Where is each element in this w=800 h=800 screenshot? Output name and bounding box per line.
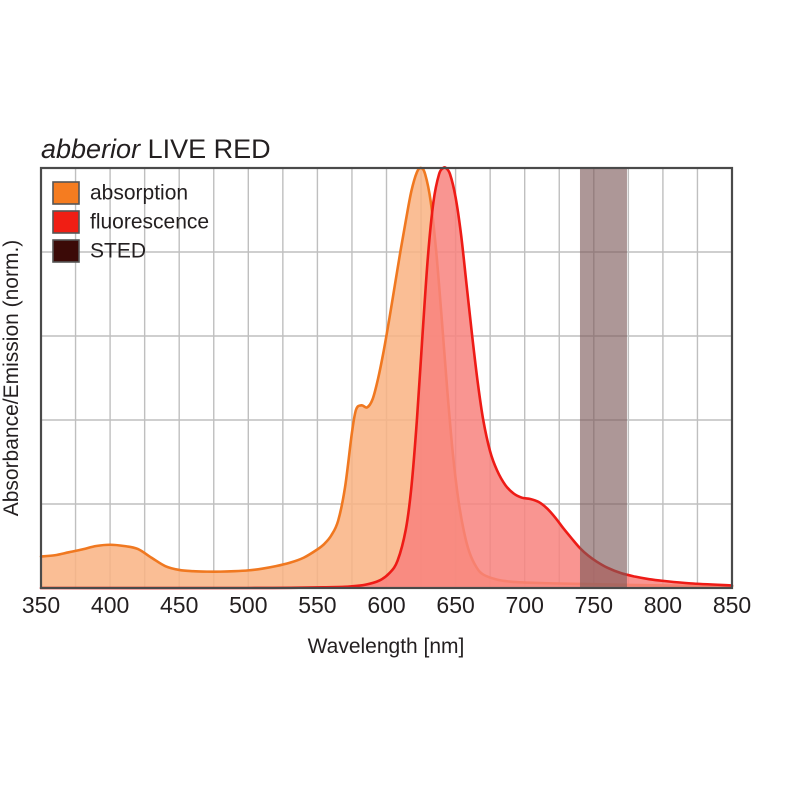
plot-area: 350400450500550600650700750800850 — [22, 167, 751, 618]
x-tick-label: 450 — [160, 592, 198, 618]
chart-title-brand: abberior — [41, 134, 141, 164]
legend-label-absorption: absorption — [90, 182, 188, 205]
x-tick-label: 850 — [713, 592, 751, 618]
chart-title-product: LIVE RED — [148, 134, 271, 164]
legend-item-STED[interactable]: STED — [53, 240, 146, 263]
x-tick-label: 550 — [298, 592, 336, 618]
spectra-chart: abberior LIVE RED 3504004505005506006507… — [0, 0, 800, 800]
x-tick-label: 500 — [229, 592, 267, 618]
y-axis-title: Absorbance/Emission (norm.) — [0, 240, 23, 517]
chart-title: abberior LIVE RED — [41, 134, 271, 164]
x-tick-label: 800 — [644, 592, 682, 618]
sted-band — [580, 168, 627, 588]
x-tick-label: 750 — [575, 592, 613, 618]
legend-swatch-fluorescence — [53, 211, 79, 233]
legend-label-STED: STED — [90, 240, 146, 263]
legend-item-fluorescence[interactable]: fluorescence — [53, 211, 209, 234]
x-tick-label: 400 — [91, 592, 129, 618]
legend-swatch-absorption — [53, 182, 79, 204]
x-axis-title: Wavelength [nm] — [308, 635, 465, 658]
legend-item-absorption[interactable]: absorption — [53, 182, 188, 205]
x-tick-label: 700 — [506, 592, 544, 618]
x-tick-label: 650 — [436, 592, 474, 618]
legend-label-fluorescence: fluorescence — [90, 211, 209, 234]
x-tick-label: 600 — [367, 592, 405, 618]
x-tick-label: 350 — [22, 592, 60, 618]
legend-swatch-STED — [53, 240, 79, 262]
